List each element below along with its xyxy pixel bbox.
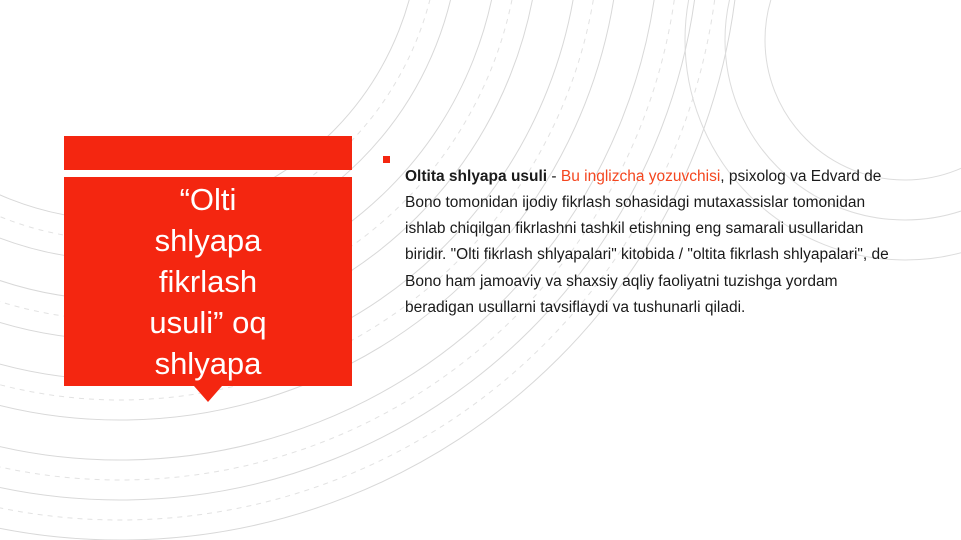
- body-rest: , psixolog va Edvard de Bono tomonidan i…: [405, 168, 889, 316]
- title-block: “Olti shlyapa fikrlash usuli” oq shlyapa: [64, 136, 352, 386]
- body-lead: Oltita shlyapa usuli: [405, 168, 547, 185]
- body-paragraph: Oltita shlyapa usuli - Bu inglizcha yozu…: [405, 164, 905, 322]
- title-accent-bar: [64, 136, 352, 170]
- body-separator: -: [547, 168, 561, 185]
- title-notch-triangle: [194, 386, 222, 402]
- body-highlight: Bu inglizcha yozuvchisi: [561, 168, 720, 185]
- title-panel: “Olti shlyapa fikrlash usuli” oq shlyapa: [64, 177, 352, 386]
- slide: “Olti shlyapa fikrlash usuli” oq shlyapa…: [0, 0, 961, 540]
- bullet-marker-icon: [383, 156, 390, 163]
- slide-title: “Olti shlyapa fikrlash usuli” oq shlyapa: [143, 179, 272, 384]
- body-block: Oltita shlyapa usuli - Bu inglizcha yozu…: [405, 148, 905, 337]
